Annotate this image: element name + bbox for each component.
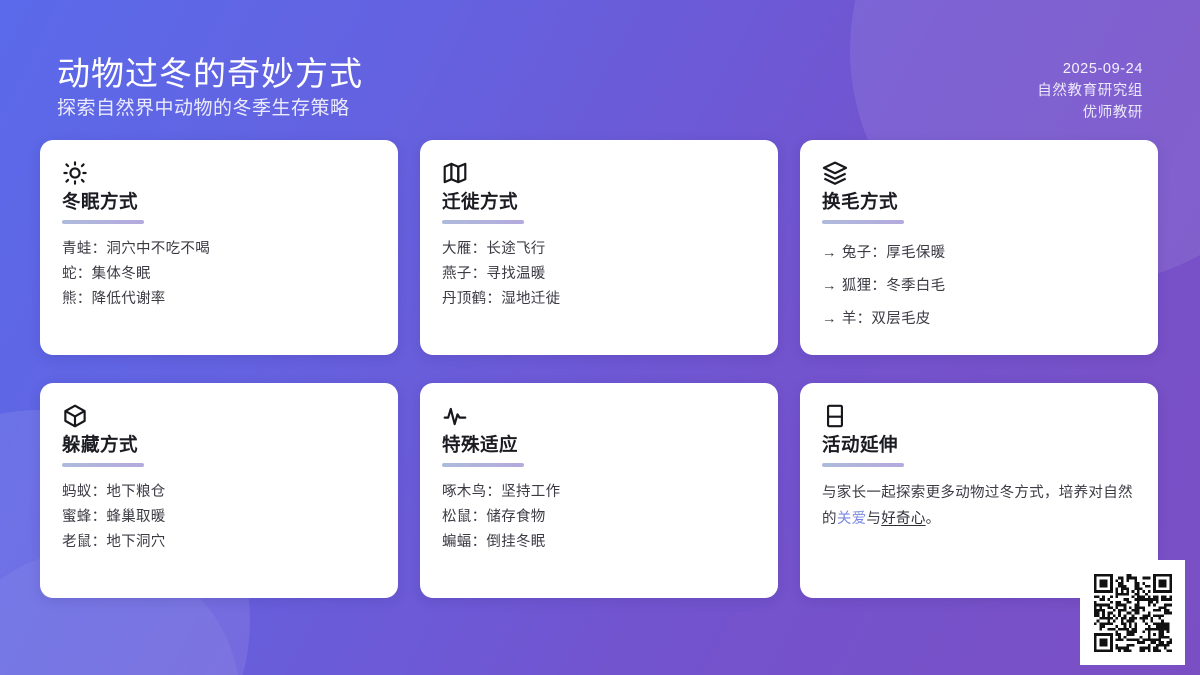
list-item: 大雁：长途飞行 — [442, 237, 756, 262]
list-item: →兔子：厚毛保暖 — [822, 237, 1136, 270]
card-paragraph: 与家长一起探索更多动物过冬方式，培养对自然的关爱与好奇心。 — [822, 480, 1136, 532]
paragraph-mid: 与 — [866, 511, 881, 527]
arrow-prefix: → — [822, 245, 837, 261]
card-item-list: 蚂蚁：地下粮仓 蜜蜂：蜂巢取暖 老鼠：地下洞穴 — [62, 480, 376, 555]
card-migration[interactable]: 迁徙方式 大雁：长途飞行 燕子：寻找温暖 丹顶鹤：湿地迁徙 — [420, 140, 778, 355]
paragraph-underline: 好奇心 — [881, 511, 925, 527]
list-item: 啄木鸟：坚持工作 — [442, 480, 756, 505]
card-accent-bar — [442, 463, 524, 467]
list-item: →羊：双层毛皮 — [822, 303, 1136, 336]
page-title: 动物过冬的奇妙方式 — [57, 56, 363, 93]
list-item: 蚂蚁：地下粮仓 — [62, 480, 376, 505]
list-item-label: 羊：双层毛皮 — [842, 311, 931, 327]
arrow-prefix: → — [822, 311, 837, 327]
card-item-list: 大雁：长途飞行 燕子：寻找温暖 丹顶鹤：湿地迁徙 — [442, 237, 756, 312]
card-title: 躲藏方式 — [62, 433, 376, 456]
list-item: 蝙蝠：倒挂冬眠 — [442, 530, 756, 555]
card-item-list: 青蛙：洞穴中不吃不喝 蛇：集体冬眠 熊：降低代谢率 — [62, 237, 376, 312]
list-item: 燕子：寻找温暖 — [442, 262, 756, 287]
card-title: 活动延伸 — [822, 433, 1136, 456]
card-accent-bar — [62, 220, 144, 224]
poster-canvas: 动物过冬的奇妙方式 探索自然界中动物的冬季生存策略 2025-09-24 自然教… — [0, 0, 1200, 675]
card-grid: 冬眠方式 青蛙：洞穴中不吃不喝 蛇：集体冬眠 熊：降低代谢率 迁徙方式 大雁：长… — [40, 140, 1160, 603]
paragraph-highlight: 关爱 — [837, 511, 867, 527]
qr-code[interactable] — [1094, 574, 1172, 652]
map-icon — [442, 160, 468, 186]
book-icon — [822, 403, 848, 429]
list-item: 松鼠：储存食物 — [442, 505, 756, 530]
poster-header: 动物过冬的奇妙方式 探索自然界中动物的冬季生存策略 2025-09-24 自然教… — [0, 0, 1200, 140]
list-item-label: 狐狸：冬季白毛 — [842, 278, 946, 294]
card-item-list: 啄木鸟：坚持工作 松鼠：储存食物 蝙蝠：倒挂冬眠 — [442, 480, 756, 555]
header-unit: 优师教研 — [1037, 102, 1143, 124]
list-item: 蛇：集体冬眠 — [62, 262, 376, 287]
layers-icon — [822, 160, 848, 186]
list-item: 熊：降低代谢率 — [62, 287, 376, 312]
list-item: →狐狸：冬季白毛 — [822, 270, 1136, 303]
card-title: 迁徙方式 — [442, 190, 756, 213]
arrow-prefix: → — [822, 278, 837, 294]
list-item: 青蛙：洞穴中不吃不喝 — [62, 237, 376, 262]
card-accent-bar — [822, 220, 904, 224]
card-title: 特殊适应 — [442, 433, 756, 456]
header-meta: 2025-09-24 自然教育研究组 优师教研 — [1037, 58, 1143, 124]
activity-icon — [442, 403, 468, 429]
card-molting[interactable]: 换毛方式 →兔子：厚毛保暖 →狐狸：冬季白毛 →羊：双层毛皮 — [800, 140, 1158, 355]
card-accent-bar — [442, 220, 524, 224]
box-icon — [62, 403, 88, 429]
list-item: 老鼠：地下洞穴 — [62, 530, 376, 555]
list-item: 丹顶鹤：湿地迁徙 — [442, 287, 756, 312]
header-org: 自然教育研究组 — [1037, 80, 1143, 102]
page-subtitle: 探索自然界中动物的冬季生存策略 — [57, 98, 363, 120]
header-text-block: 动物过冬的奇妙方式 探索自然界中动物的冬季生存策略 — [57, 56, 363, 120]
card-hibernation[interactable]: 冬眠方式 青蛙：洞穴中不吃不喝 蛇：集体冬眠 熊：降低代谢率 — [40, 140, 398, 355]
qr-panel — [1080, 560, 1185, 665]
sun-icon — [62, 160, 88, 186]
header-date: 2025-09-24 — [1037, 58, 1143, 80]
card-title: 换毛方式 — [822, 190, 1136, 213]
card-accent-bar — [822, 463, 904, 467]
list-item-label: 兔子：厚毛保暖 — [842, 245, 946, 261]
card-accent-bar — [62, 463, 144, 467]
paragraph-tail: 。 — [926, 511, 941, 527]
list-item: 蜜蜂：蜂巢取暖 — [62, 505, 376, 530]
card-hiding[interactable]: 躲藏方式 蚂蚁：地下粮仓 蜜蜂：蜂巢取暖 老鼠：地下洞穴 — [40, 383, 398, 598]
card-item-list: →兔子：厚毛保暖 →狐狸：冬季白毛 →羊：双层毛皮 — [822, 237, 1136, 336]
card-special-adaptation[interactable]: 特殊适应 啄木鸟：坚持工作 松鼠：储存食物 蝙蝠：倒挂冬眠 — [420, 383, 778, 598]
card-title: 冬眠方式 — [62, 190, 376, 213]
